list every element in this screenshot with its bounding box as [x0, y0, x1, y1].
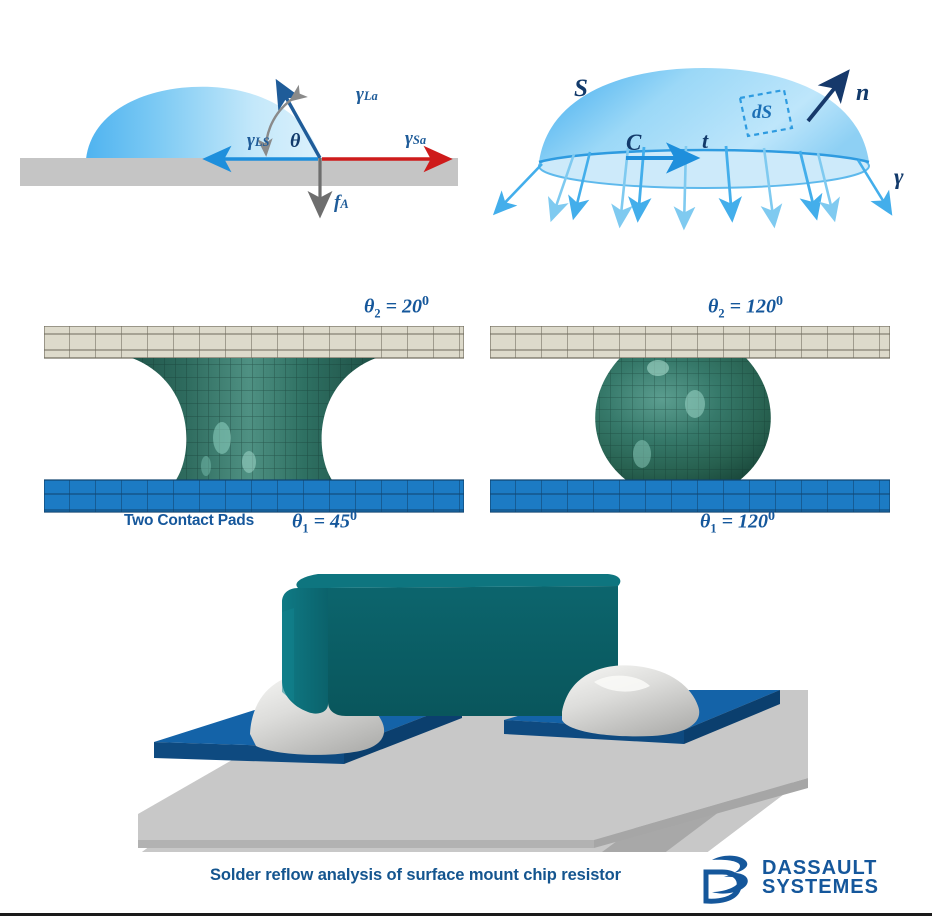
area-element-label: dS	[752, 102, 772, 124]
fea-left-bottom-plate	[44, 480, 464, 512]
logo-line-systemes: SYSTEMES	[762, 878, 879, 897]
normal-label: n	[856, 80, 869, 107]
dassault-systemes-logo: DASSAULT SYSTEMES	[700, 852, 879, 904]
three-ds-mark-icon	[700, 852, 756, 904]
panel-surface: S C t dS n γ	[478, 46, 932, 276]
theta-label: θ	[290, 130, 300, 153]
fea-right-model	[490, 326, 890, 526]
two-contact-pads-label: Two Contact Pads	[124, 512, 254, 530]
chip-resistor-render	[132, 552, 812, 852]
solid-substrate	[20, 158, 458, 186]
fea-left-theta2-label: θ2 = 200	[364, 294, 429, 322]
fea-left-model	[44, 326, 464, 526]
tangent-label: t	[702, 128, 708, 154]
fea-right-bottom-plate	[490, 480, 890, 512]
figure-canvas: γLa γLS γSa θ fA	[0, 0, 932, 916]
fa-label: fA	[334, 192, 349, 214]
panel-render3d	[132, 552, 812, 852]
contour-label: C	[626, 130, 641, 156]
fea-left-top-plate	[44, 326, 464, 358]
gamma-label: γ	[894, 164, 904, 190]
gamma-la-label: γLa	[356, 84, 378, 106]
gamma-ls-label: γLS	[247, 130, 270, 152]
fea-left-theta1-label: θ1 = 450	[292, 509, 357, 537]
figure-caption: Solder reflow analysis of surface mount …	[210, 866, 621, 885]
fea-right-theta1-label: θ1 = 1200	[700, 509, 775, 537]
gamma-sa-label: γSa	[405, 128, 426, 150]
fea-right-theta2-label: θ2 = 1200	[708, 294, 783, 322]
surface-label: S	[574, 75, 588, 103]
fea-right-top-plate	[490, 326, 890, 358]
panel-wetting: γLa γLS γSa θ fA	[0, 46, 470, 276]
dassault-systemes-wordmark: DASSAULT SYSTEMES	[762, 859, 879, 897]
wetting-diagram	[0, 46, 470, 276]
